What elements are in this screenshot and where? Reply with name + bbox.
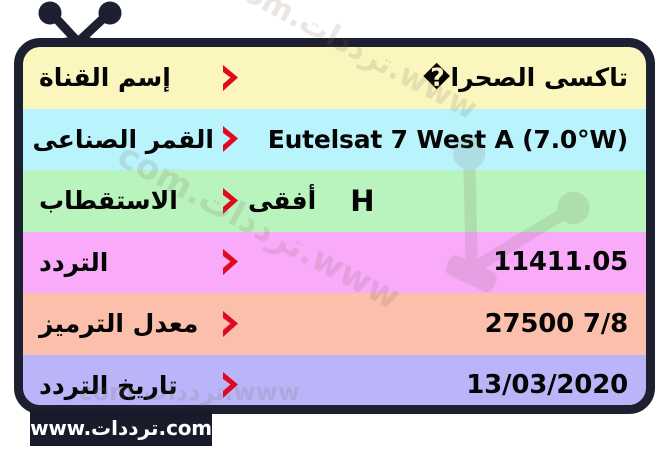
row-polarization-value-arabic: أفقى (248, 186, 316, 215)
chevron-right-icon (214, 124, 248, 154)
row-frequency-value: 11411.05 (248, 247, 632, 277)
row-channel-name: تاكسى الصحرا� إسم القناة (23, 47, 646, 109)
chevron-right-icon (214, 247, 248, 277)
chevron-right-icon (214, 370, 248, 400)
row-symbol-rate: 27500 7/8 معدل الترميز (23, 293, 646, 355)
row-polarization-value-letter: H (350, 184, 374, 218)
row-channel-name-label: إسم القناة (33, 63, 214, 92)
row-polarization: أفقى H الاستقطاب (23, 170, 646, 232)
site-footer-bar: www.ترددات.com (30, 409, 212, 446)
chevron-right-icon (214, 186, 248, 216)
channel-frequency-card: تاكسى الصحرا� إسم القناة Eutelsat 7 West… (14, 38, 655, 414)
row-polarization-label: الاستقطاب (33, 186, 214, 215)
chevron-right-icon (214, 309, 248, 339)
row-frequency-date-value: 13/03/2020 (248, 370, 632, 400)
rows-container: تاكسى الصحرا� إسم القناة Eutelsat 7 West… (23, 47, 646, 405)
row-satellite-label: القمر الصناعى (33, 125, 214, 154)
row-frequency-label: التردد (33, 248, 214, 277)
row-satellite: Eutelsat 7 West A (7.0°W) القمر الصناعى (23, 109, 646, 171)
row-frequency-date: 13/03/2020 تاريخ التردد (23, 355, 646, 406)
row-polarization-value: أفقى H (248, 184, 632, 218)
chevron-right-icon (214, 63, 248, 93)
row-symbol-rate-label: معدل الترميز (33, 309, 214, 338)
row-satellite-value: Eutelsat 7 West A (7.0°W) (248, 125, 632, 154)
site-footer-text: www.ترددات.com (30, 416, 212, 440)
row-frequency: 11411.05 التردد (23, 232, 646, 294)
row-symbol-rate-value: 27500 7/8 (248, 309, 632, 339)
row-channel-name-value: تاكسى الصحرا� (248, 63, 632, 92)
row-frequency-date-label: تاريخ التردد (33, 371, 214, 400)
